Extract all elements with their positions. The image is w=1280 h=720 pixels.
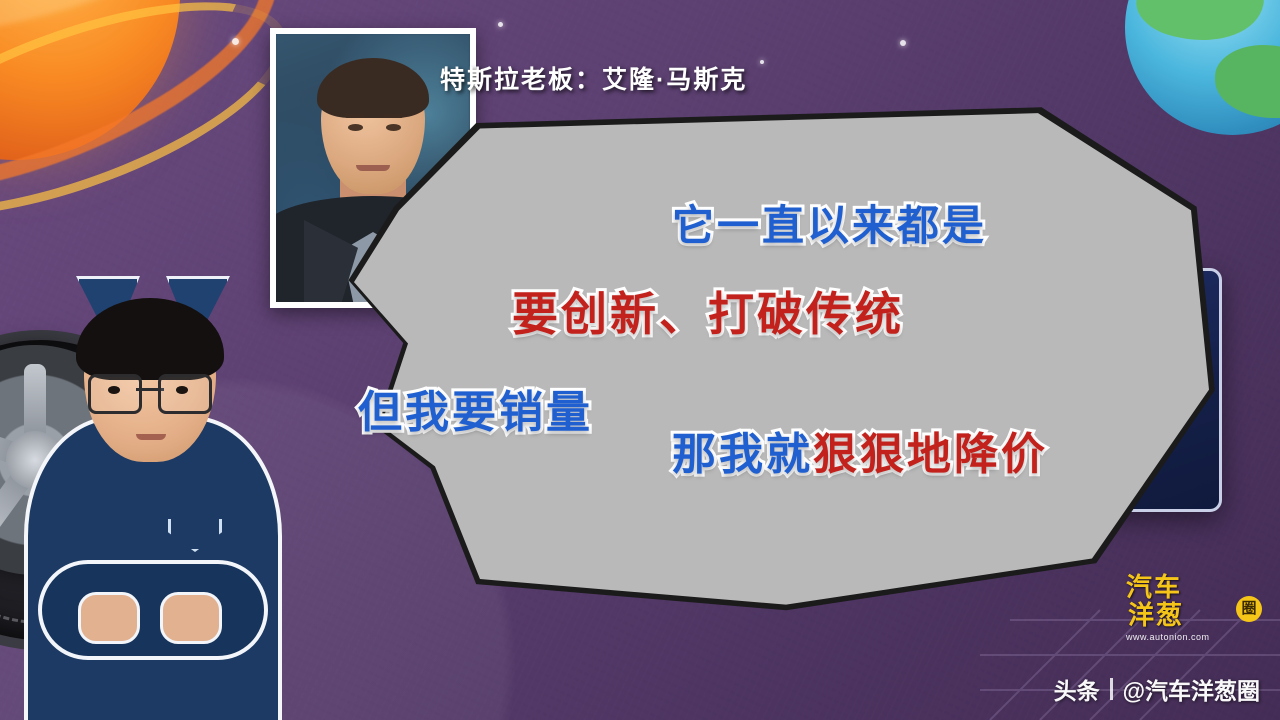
- star-icon: [760, 60, 764, 64]
- star-icon: [900, 40, 906, 46]
- elon-musk-name-label: 特斯拉老板：艾隆·马斯克: [440, 60, 747, 96]
- platform-name: 头条: [1054, 672, 1100, 706]
- caption-line-4-red: 狠狠地降价: [813, 429, 1048, 480]
- glasses-icon: [88, 374, 212, 408]
- caption-line-3: 但我要销量: [358, 376, 593, 440]
- caption-line-2: 要创新、打破传统: [512, 278, 904, 344]
- star-icon: [498, 22, 503, 27]
- channel-logo-line-1: 汽车: [1126, 574, 1246, 601]
- presenter-arms: [38, 560, 268, 660]
- caption-line-4: 那我就狠狠地降价: [672, 418, 1048, 482]
- presenter-figure: [18, 270, 288, 720]
- channel-url: www.autonion.com: [1126, 632, 1246, 642]
- account-handle: @汽车洋葱圈: [1123, 672, 1260, 706]
- star-icon: [232, 38, 239, 45]
- divider: [1110, 678, 1113, 700]
- caption-line-1: 它一直以来都是: [672, 192, 987, 253]
- channel-logo-watermark: 汽车 洋葱 www.autonion.com 圈: [1126, 574, 1246, 642]
- caption-line-4-blue: 那我就: [672, 429, 813, 480]
- channel-logo-line-2: 洋葱: [1128, 602, 1246, 629]
- platform-watermark: 头条 @汽车洋葱圈: [1054, 672, 1260, 706]
- video-frame: 80 60 ONG: [0, 0, 1280, 720]
